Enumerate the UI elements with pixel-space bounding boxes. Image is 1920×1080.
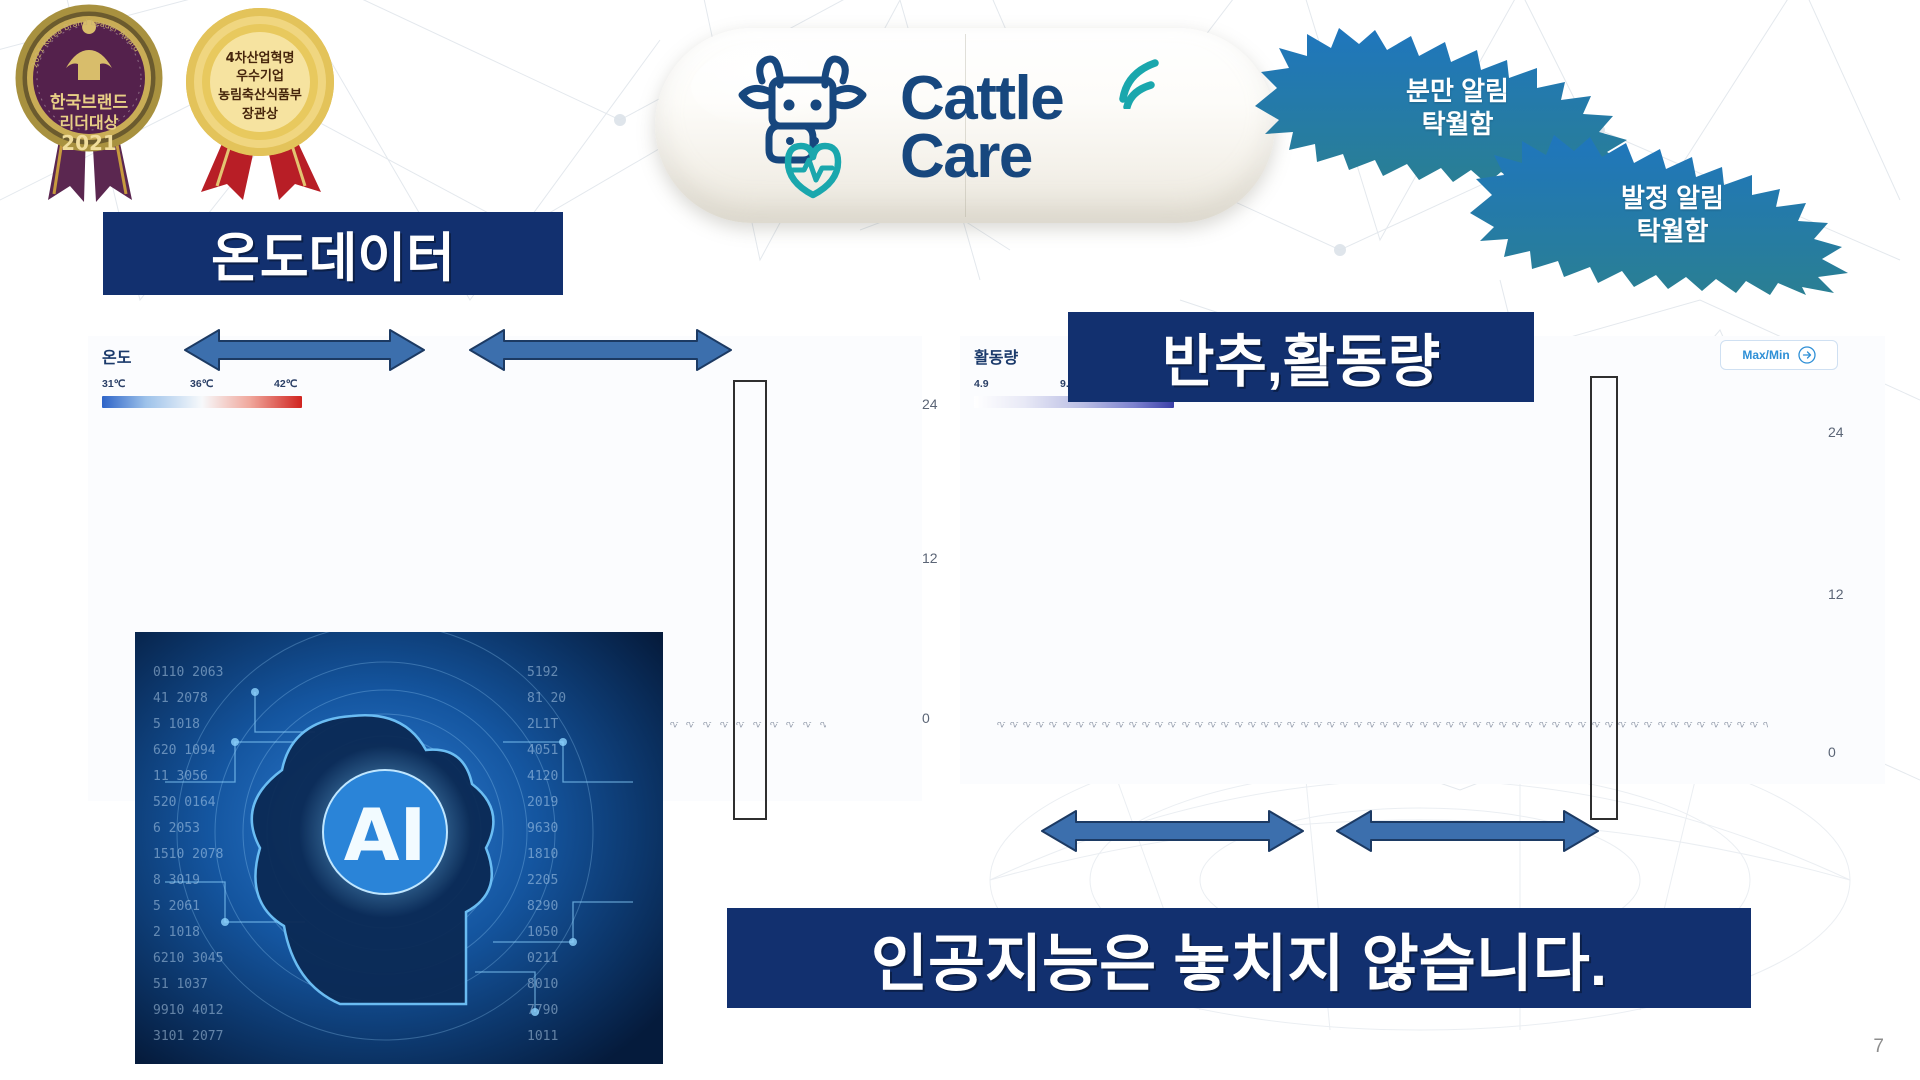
temperature-scale-labels: 31℃ 36℃ 42℃ bbox=[102, 378, 302, 394]
cattle-care-logo: Cattle Care bbox=[715, 45, 1235, 210]
svg-text:5 1018: 5 1018 bbox=[153, 717, 200, 732]
callout-text-estrus: 발정 알림 탁월함 bbox=[1621, 182, 1724, 249]
svg-text:2019: 2019 bbox=[527, 795, 558, 810]
act-ytick-12: 12 bbox=[1828, 586, 1844, 602]
svg-text:2205: 2205 bbox=[527, 873, 558, 888]
temperature-range-arrow-right bbox=[468, 327, 733, 373]
activity-range-arrow-left bbox=[1040, 808, 1305, 854]
svg-text:리더대상: 리더대상 bbox=[60, 113, 119, 132]
svg-text:한국브랜드: 한국브랜드 bbox=[50, 93, 129, 113]
svg-text:1050: 1050 bbox=[527, 925, 558, 940]
temp-ytick-0: 0 bbox=[922, 710, 930, 726]
ai-brain-illustration: 0110 206341 2078 5 1018620 1094 11 30565… bbox=[135, 632, 663, 1064]
svg-text:9910 4012: 9910 4012 bbox=[153, 1003, 223, 1018]
logo-line-1: Cattle bbox=[900, 70, 1063, 127]
date-tick: 25-10-06 bbox=[818, 722, 826, 729]
svg-text:4051: 4051 bbox=[527, 743, 558, 758]
callout-line-2: 탁월함 bbox=[1621, 215, 1724, 248]
svg-text:81 20: 81 20 bbox=[527, 691, 566, 706]
svg-text:8010: 8010 bbox=[527, 977, 558, 992]
act-ytick-0: 0 bbox=[1828, 744, 1836, 760]
svg-text:4차산업혁명: 4차산업혁명 bbox=[226, 50, 295, 66]
svg-text:우수기업: 우수기업 bbox=[236, 69, 284, 84]
callout-line-1: 분만 알림 bbox=[1406, 75, 1509, 108]
caption-rumination-activity: 반추,활동량 bbox=[1068, 312, 1534, 402]
awards-group: 한국브랜드 리더대상 2021 2021 Korea Brand Leader … bbox=[8, 4, 338, 209]
svg-text:8 3019: 8 3019 bbox=[153, 873, 200, 888]
temp-tick-mid: 36℃ bbox=[190, 378, 213, 390]
award-medal-korea-brand-leader: 한국브랜드 리더대상 2021 2021 Korea Brand Leader … bbox=[14, 4, 164, 204]
callout-line-1: 발정 알림 bbox=[1621, 182, 1724, 215]
svg-text:2L1T: 2L1T bbox=[527, 717, 558, 732]
svg-text:0110 2063: 0110 2063 bbox=[153, 665, 223, 680]
svg-text:2 1018: 2 1018 bbox=[153, 925, 200, 940]
temp-tick-max: 42℃ bbox=[274, 378, 297, 390]
svg-text:2021: 2021 bbox=[61, 131, 117, 155]
svg-text:1510 2078: 1510 2078 bbox=[153, 847, 223, 862]
svg-text:장관상: 장관상 bbox=[242, 106, 278, 122]
svg-text:5192: 5192 bbox=[527, 665, 558, 680]
maxmin-label: Max/Min bbox=[1742, 348, 1789, 362]
callout-text-calving: 분만 알림 탁월함 bbox=[1406, 75, 1509, 142]
ai-brain-image: 0110 206341 2078 5 1018620 1094 11 30565… bbox=[135, 632, 663, 1064]
caption-ai-banner: 인공지능은 놓치지 않습니다. bbox=[727, 908, 1751, 1008]
svg-text:4120: 4120 bbox=[527, 769, 558, 784]
activity-chart-panel: 활동량 4.9 9.5 14.1 bbox=[960, 336, 1885, 784]
act-ytick-24: 24 bbox=[1828, 424, 1844, 440]
svg-text:농림축산식품부: 농림축산식품부 bbox=[218, 87, 302, 103]
svg-text:3101 2077: 3101 2077 bbox=[153, 1029, 223, 1044]
activity-selection-rectangle[interactable] bbox=[1590, 376, 1618, 820]
maxmin-button[interactable]: Max/Min bbox=[1720, 340, 1838, 370]
activity-x-axis-dates: 25-09-0825-09-0925-09-1025-09-1125-09-12… bbox=[988, 722, 1768, 782]
temp-tick-min: 31℃ bbox=[102, 378, 125, 390]
arrow-right-circle-icon bbox=[1798, 346, 1816, 364]
svg-text:6210 3045: 6210 3045 bbox=[153, 951, 223, 966]
svg-text:620 1094: 620 1094 bbox=[153, 743, 216, 758]
caption-temperature-data: 온도데이터 bbox=[103, 212, 563, 295]
date-tick: 25-11-06 bbox=[1761, 722, 1768, 729]
svg-text:5 2061: 5 2061 bbox=[153, 899, 200, 914]
callout-estrus-alert: 발정 알림 탁월함 bbox=[1470, 135, 1875, 295]
svg-text:41 2078: 41 2078 bbox=[153, 691, 208, 706]
activity-range-arrow-right bbox=[1335, 808, 1600, 854]
svg-text:0211: 0211 bbox=[527, 951, 558, 966]
temp-ytick-12: 12 bbox=[922, 550, 938, 566]
svg-text:8290: 8290 bbox=[527, 899, 558, 914]
ai-label: AI bbox=[344, 793, 427, 877]
svg-text:1810: 1810 bbox=[527, 847, 558, 862]
temperature-colorbar bbox=[102, 396, 302, 408]
award-medal-ministry: 4차산업혁명 우수기업 농림축산식품부 장관상 bbox=[183, 4, 338, 204]
logo-line-2: Care bbox=[900, 128, 1063, 185]
wifi-signal-icon bbox=[1113, 53, 1173, 109]
cow-head-heart-icon bbox=[715, 53, 890, 203]
temperature-range-arrow-left bbox=[183, 327, 426, 373]
page-number: 7 bbox=[1873, 1036, 1884, 1058]
svg-text:6 2053: 6 2053 bbox=[153, 821, 200, 836]
svg-text:520 0164: 520 0164 bbox=[153, 795, 216, 810]
act-tick-min: 4.9 bbox=[974, 378, 989, 390]
svg-text:9630: 9630 bbox=[527, 821, 558, 836]
temperature-selection-rectangle[interactable] bbox=[733, 380, 767, 820]
svg-text:1011: 1011 bbox=[527, 1029, 558, 1044]
svg-text:51 1037: 51 1037 bbox=[153, 977, 208, 992]
temp-ytick-24: 24 bbox=[922, 396, 938, 412]
